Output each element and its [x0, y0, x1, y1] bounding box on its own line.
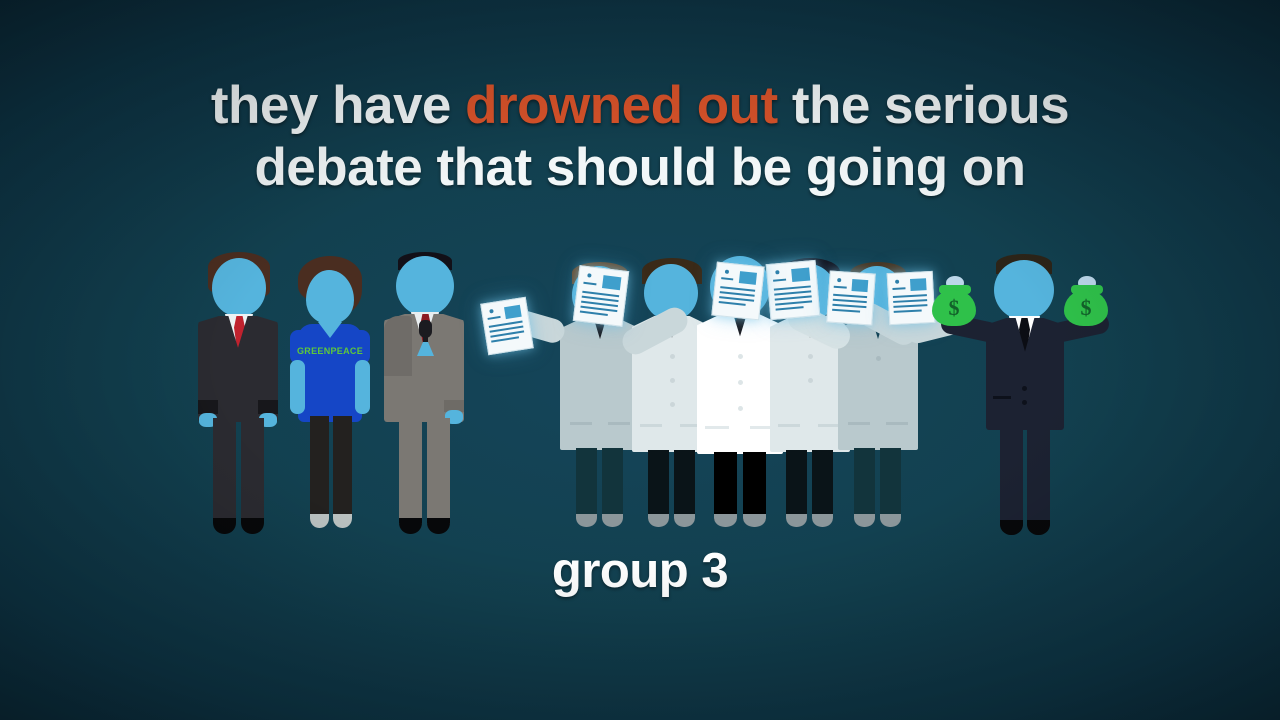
coat-pocket-line — [570, 422, 592, 425]
coat-button-1 — [738, 354, 743, 359]
coat-button-2 — [808, 378, 813, 383]
paper-line — [893, 294, 926, 298]
leg-left — [854, 448, 875, 520]
leg-left — [213, 418, 236, 524]
paper-line — [832, 309, 859, 313]
leg-right — [743, 452, 766, 520]
head — [212, 258, 266, 316]
research-paper-1 — [480, 297, 534, 356]
shoe-left — [1000, 520, 1023, 535]
coat-pocket-line — [705, 426, 729, 429]
shoe-left — [714, 514, 737, 527]
leg-right — [1027, 426, 1050, 526]
paper-dot — [895, 280, 899, 284]
head — [994, 260, 1054, 320]
paper-line — [491, 336, 518, 342]
coat-button-1 — [670, 354, 675, 359]
paper-dot — [725, 270, 729, 274]
headline-line-2: debate that should be going on — [0, 140, 1280, 196]
money-bag-right: $ — [1062, 276, 1110, 326]
jacket-cuff-right — [258, 400, 278, 414]
jacket-button-1 — [1022, 386, 1027, 391]
leg-left — [714, 452, 737, 520]
figure-lobbyist — [976, 254, 1072, 540]
paper-dot — [587, 273, 591, 277]
leg-left — [786, 450, 807, 520]
shoe-left — [399, 518, 422, 534]
headline-post: the serious — [778, 76, 1069, 135]
dollar-sign: $ — [932, 294, 976, 322]
paper-line — [833, 304, 866, 308]
paper-line — [834, 286, 846, 289]
shoe-right — [602, 514, 623, 527]
leg-right — [333, 416, 352, 520]
figure-greenpeace-activist: GREENPEACE — [288, 256, 372, 540]
coat-button-2 — [670, 378, 675, 383]
shoe-right — [333, 514, 352, 528]
paper-line — [775, 300, 812, 305]
paper-line — [775, 306, 803, 310]
shoe-left — [310, 514, 329, 528]
jacket-button-2 — [1022, 400, 1027, 405]
tshirt-logo-text: GREENPEACE — [296, 346, 364, 356]
research-paper-4 — [826, 270, 876, 325]
arm-raised-left — [384, 316, 412, 376]
shoe-left — [576, 514, 597, 527]
paper-image-block — [739, 271, 757, 285]
figure-businessman-dark-suit — [192, 252, 284, 540]
leg-right — [602, 448, 623, 520]
paper-dot — [837, 278, 841, 282]
shoe-left — [648, 514, 669, 527]
money-bag-left: $ — [930, 276, 978, 326]
paper-image-block — [851, 279, 868, 292]
paper-line — [580, 311, 608, 316]
coat-button-3 — [738, 406, 743, 411]
coat-button-3 — [670, 402, 675, 407]
paper-line — [893, 287, 905, 290]
animation-frame: they have drowned out the serious debate… — [0, 0, 1280, 720]
figure-journalist-gray-suit — [378, 250, 470, 542]
coat-pocket-line — [848, 422, 870, 425]
paper-line — [718, 301, 746, 306]
paper-dot — [775, 270, 779, 274]
research-paper-6 — [711, 262, 764, 321]
coat-pocket-line — [640, 424, 662, 427]
tshirt — [298, 324, 362, 422]
shoe-right — [1027, 520, 1050, 535]
leg-right — [241, 418, 264, 524]
headline-accent: drowned out — [465, 76, 777, 135]
coat-pocket-line-2 — [886, 422, 908, 425]
coat-button-1 — [876, 356, 881, 361]
leg-right — [674, 450, 695, 520]
paper-line — [583, 282, 597, 286]
shoe-right — [743, 514, 766, 527]
coat-pocket-line — [778, 424, 800, 427]
shoe-right — [674, 514, 695, 527]
shoe-left — [786, 514, 807, 527]
arm-left — [290, 360, 305, 414]
paper-image-block — [602, 275, 621, 290]
paper-line — [721, 277, 734, 280]
coat-pocket-line-2 — [608, 422, 630, 425]
paper-line — [894, 304, 927, 308]
research-paper-3 — [766, 260, 821, 320]
leg-left — [1000, 426, 1023, 526]
research-paper-2 — [573, 265, 629, 327]
paper-line — [894, 299, 927, 303]
shoe-left — [213, 518, 236, 534]
head — [396, 256, 454, 316]
paper-dot — [489, 309, 494, 314]
shoe-right — [241, 518, 264, 534]
headline-pre: they have — [211, 76, 465, 135]
paper-line — [773, 279, 787, 282]
shoe-right — [812, 514, 833, 527]
paper-line — [488, 316, 500, 320]
paper-line — [894, 309, 921, 312]
dollar-sign: $ — [1064, 294, 1108, 322]
leg-left — [310, 416, 329, 520]
leg-left — [648, 450, 669, 520]
paper-line — [833, 299, 866, 303]
leg-left — [399, 418, 422, 524]
leg-right — [812, 450, 833, 520]
shoe-left — [854, 514, 875, 527]
shoe-right — [880, 514, 901, 527]
paper-image-block — [791, 268, 810, 283]
jacket-cuff-left — [198, 400, 218, 414]
coat-button-2 — [738, 380, 743, 385]
coat-button-1 — [808, 354, 813, 359]
leg-left — [576, 448, 597, 520]
shoe-right — [427, 518, 450, 534]
arm-right — [355, 360, 370, 414]
jacket-pocket-line — [993, 396, 1011, 399]
research-paper-5 — [887, 271, 936, 325]
paper-image-block — [910, 278, 927, 291]
leg-right — [427, 418, 450, 524]
paper-line — [834, 294, 867, 298]
headline-text: they have drowned out the serious debate… — [0, 78, 1280, 195]
paper-image-block — [504, 305, 522, 319]
group-caption: group 3 — [0, 543, 1280, 599]
leg-right — [880, 448, 901, 520]
headline-line-1: they have drowned out the serious — [211, 76, 1069, 135]
